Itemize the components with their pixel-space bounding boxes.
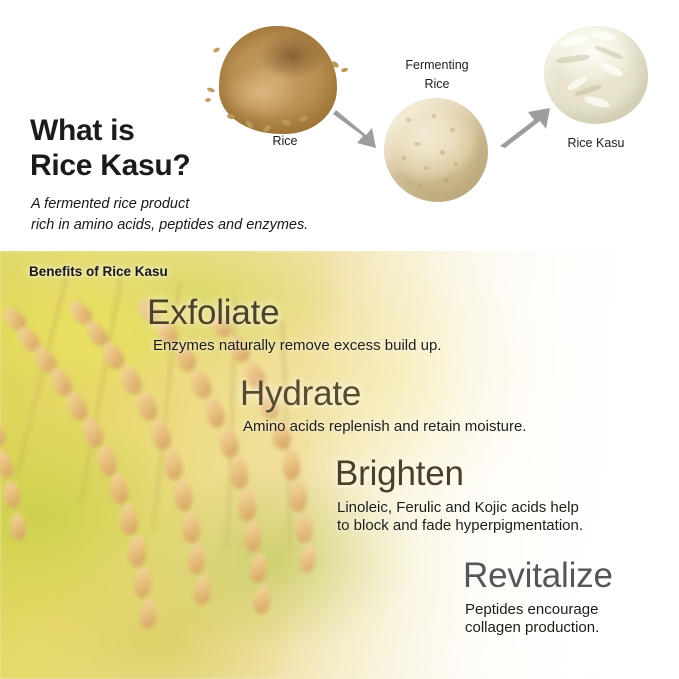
benefit-revitalize-body: Peptides encourage collagen production. [465,601,613,638]
ferment-pore [414,142,420,146]
rice-kasu-infographic: What is Rice Kasu? A fermented rice prod… [0,0,679,679]
fermenting-rice-ball-image [384,98,488,202]
kasu-flake [559,33,590,49]
benefits-section: Benefits of Rice Kasu Exfoliate Enzymes … [0,251,679,679]
what-is-rice-kasu-section: What is Rice Kasu? A fermented rice prod… [0,0,679,251]
page-title: What is Rice Kasu? [30,113,190,184]
benefit-revitalize-heading: Revitalize [463,558,613,593]
stage-fermenting-rice-label: Fermenting Rice [376,56,498,94]
rice-kasu-paste-image [544,26,648,124]
ferment-pore [440,150,445,155]
stage-rice-kasu: Rice Kasu [540,24,670,159]
benefit-brighten-heading: Brighten [335,456,583,491]
ferment-pore [418,184,422,187]
benefits-title: Benefits of Rice Kasu [29,264,168,279]
kasu-flake [599,61,624,79]
ferment-pore [424,166,429,170]
ferment-pore [450,128,455,132]
benefit-revitalize: Revitalize Peptides encourage collagen p… [463,558,613,638]
benefit-hydrate-body: Amino acids replenish and retain moistur… [243,418,526,436]
page-subtitle: A fermented rice product rich in amino a… [31,194,308,236]
benefit-hydrate: Hydrate Amino acids replenish and retain… [240,376,526,436]
ferment-pore [432,114,436,118]
kasu-flake [583,95,610,110]
benefit-brighten: Brighten Linoleic, Ferulic and Kojic aci… [335,456,583,536]
stage-rice-kasu-label: Rice Kasu [546,136,646,150]
ferment-pore [406,118,411,122]
rice-grain-speck [207,87,216,93]
rice-grain-speck [205,98,212,103]
benefit-hydrate-heading: Hydrate [240,376,526,411]
kasu-flake [590,30,617,42]
ferment-pore [444,178,449,182]
stage-fermenting-rice: Fermenting Rice [378,58,503,198]
benefit-exfoliate-heading: Exfoliate [147,295,441,330]
rice-grain-speck [212,47,220,54]
benefit-exfoliate-body: Enzymes naturally remove excess build up… [153,337,441,355]
kasu-crease [556,54,591,65]
stage-rice-label: Rice [237,134,333,148]
ferment-pore [454,162,458,166]
ferment-pore [402,156,406,160]
benefit-brighten-body: Linoleic, Ferulic and Kojic acids help t… [337,499,583,536]
rice-grain-speck [341,67,349,73]
kasu-crease [594,45,624,61]
benefit-exfoliate: Exfoliate Enzymes naturally remove exces… [147,295,441,355]
rice-grains-pile-image [219,26,337,134]
